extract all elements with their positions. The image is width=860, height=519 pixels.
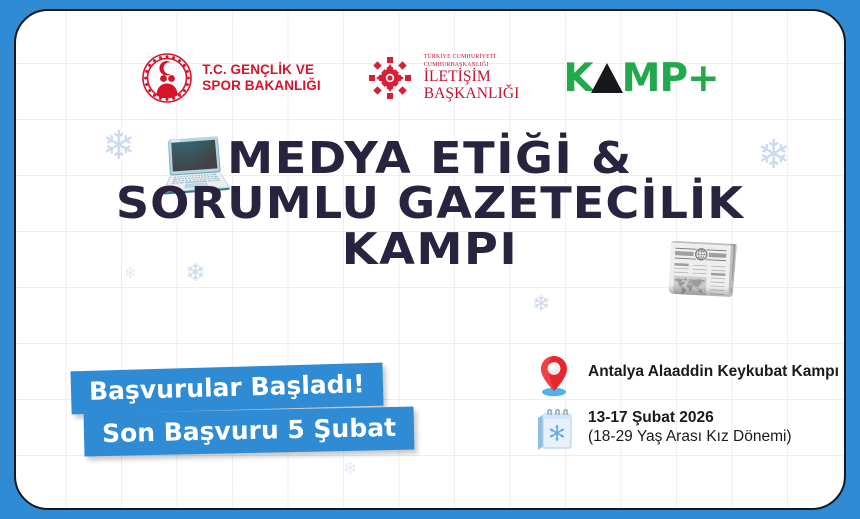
ministry-logo-text: T.C. GENÇLİK VE SPOR BAKANLIĞI — [202, 62, 320, 95]
snowflake-icon: ❄ — [532, 293, 550, 315]
applications-open-banner: Başvurular Başladı! — [70, 363, 383, 415]
ministry-line-2: SPOR BAKANLIĞI — [202, 78, 320, 93]
communications-big-1: İLETİŞİM — [424, 69, 520, 86]
rosette-emblem-icon — [365, 53, 415, 103]
event-info: Antalya Alaaddin Keykubat Kampı — [532, 352, 839, 460]
headline-line-2: SORUMLU GAZETECİLİK — [14, 181, 846, 226]
kamp-logo-k: K — [563, 56, 592, 101]
headline-line-1: MEDYA ETİĞİ & — [14, 136, 846, 181]
location-text: Antalya Alaaddin Keykubat Kampı — [588, 362, 839, 381]
date-row: 13-17 Şubat 2026 (18-29 Yaş Arası Kız Dö… — [532, 406, 839, 452]
page-title: MEDYA ETİĞİ & SORUMLU GAZETECİLİK KAMPI — [14, 136, 846, 272]
communications-logo-text: TÜRKİYE CUMHURİYETİ CUMHURBAŞKANLIĞI İLE… — [424, 53, 520, 103]
poster-frame: ❄ ❄ ❄ ❄ ❄ ❄ — [0, 0, 860, 519]
kamp-logo-mp: MP+ — [622, 56, 719, 101]
deadline-banner: Son Başvuru 5 Şubat — [84, 407, 415, 457]
location-row: Antalya Alaaddin Keykubat Kampı — [532, 352, 839, 398]
triangle-a-icon — [591, 63, 623, 93]
communications-big-2: BAŞKANLIĞI — [424, 86, 520, 103]
date-text-wrap: 13-17 Şubat 2026 (18-29 Yaş Arası Kız Dö… — [588, 406, 792, 448]
kamp-plus-logo: K MP+ — [563, 56, 718, 101]
date-subtext: (18-29 Yaş Arası Kız Dönemi) — [588, 427, 792, 447]
poster-card: ❄ ❄ ❄ ❄ ❄ ❄ — [14, 9, 846, 510]
communications-logo: TÜRKİYE CUMHURİYETİ CUMHURBAŞKANLIĞI İLE… — [365, 53, 520, 103]
calendar-icon — [532, 406, 576, 452]
date-text: 13-17 Şubat 2026 — [588, 408, 792, 427]
ministry-line-1: T.C. GENÇLİK VE — [202, 62, 314, 77]
communications-small-1: TÜRKİYE CUMHURİYETİ — [424, 53, 520, 61]
ministry-logo: T.C. GENÇLİK VE SPOR BAKANLIĞI — [141, 52, 320, 104]
map-pin-icon — [532, 352, 576, 398]
location-text-wrap: Antalya Alaaddin Keykubat Kampı — [588, 352, 839, 381]
headline-line-3: KAMPI — [14, 227, 846, 272]
logo-row: T.C. GENÇLİK VE SPOR BAKANLIĞI — [16, 47, 844, 109]
tc-emblem-icon — [141, 52, 193, 104]
snowflake-icon: ❄ — [343, 460, 357, 477]
